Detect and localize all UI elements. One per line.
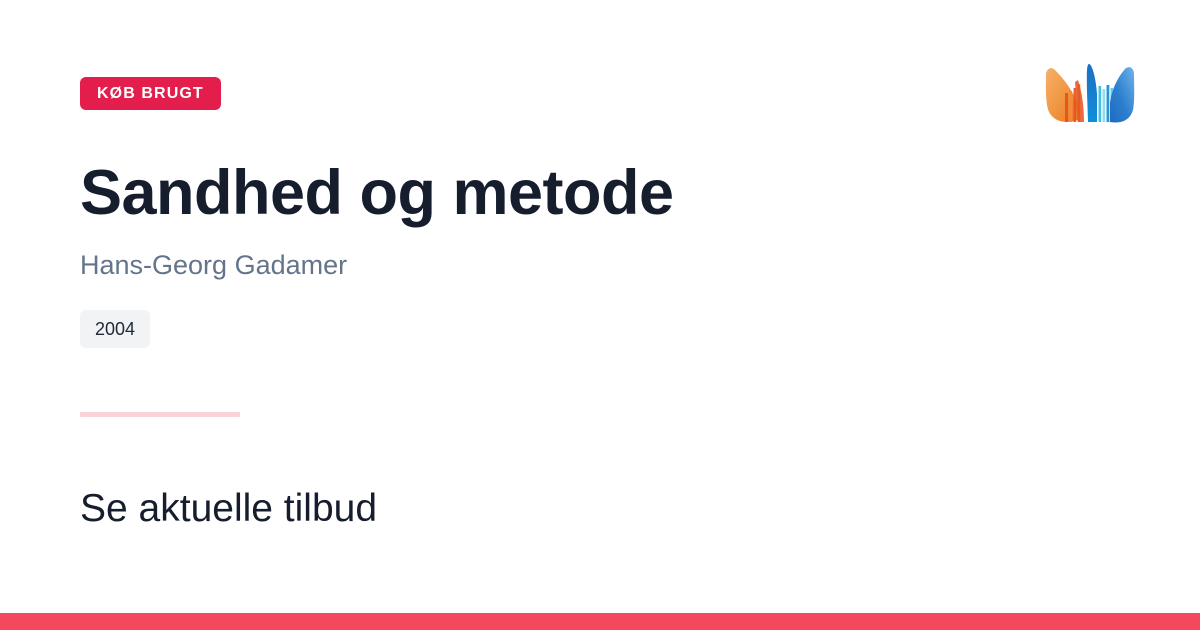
status-badge[interactable]: KØB BRUGT — [80, 77, 221, 110]
open-book-logo[interactable] — [1042, 52, 1138, 156]
divider — [80, 412, 240, 417]
year-chip: 2004 — [80, 310, 150, 348]
book-author: Hans-Georg Gadamer — [80, 248, 347, 282]
page-title: Sandhed og metode — [80, 155, 674, 231]
share-card: KØB BRUGT Sandhed og metode Hans-Georg G… — [0, 0, 1200, 630]
metadata-chip-row: 2004 — [80, 310, 150, 348]
footer-accent-bar — [0, 613, 1200, 630]
cta-text[interactable]: Se aktuelle tilbud — [80, 484, 377, 534]
